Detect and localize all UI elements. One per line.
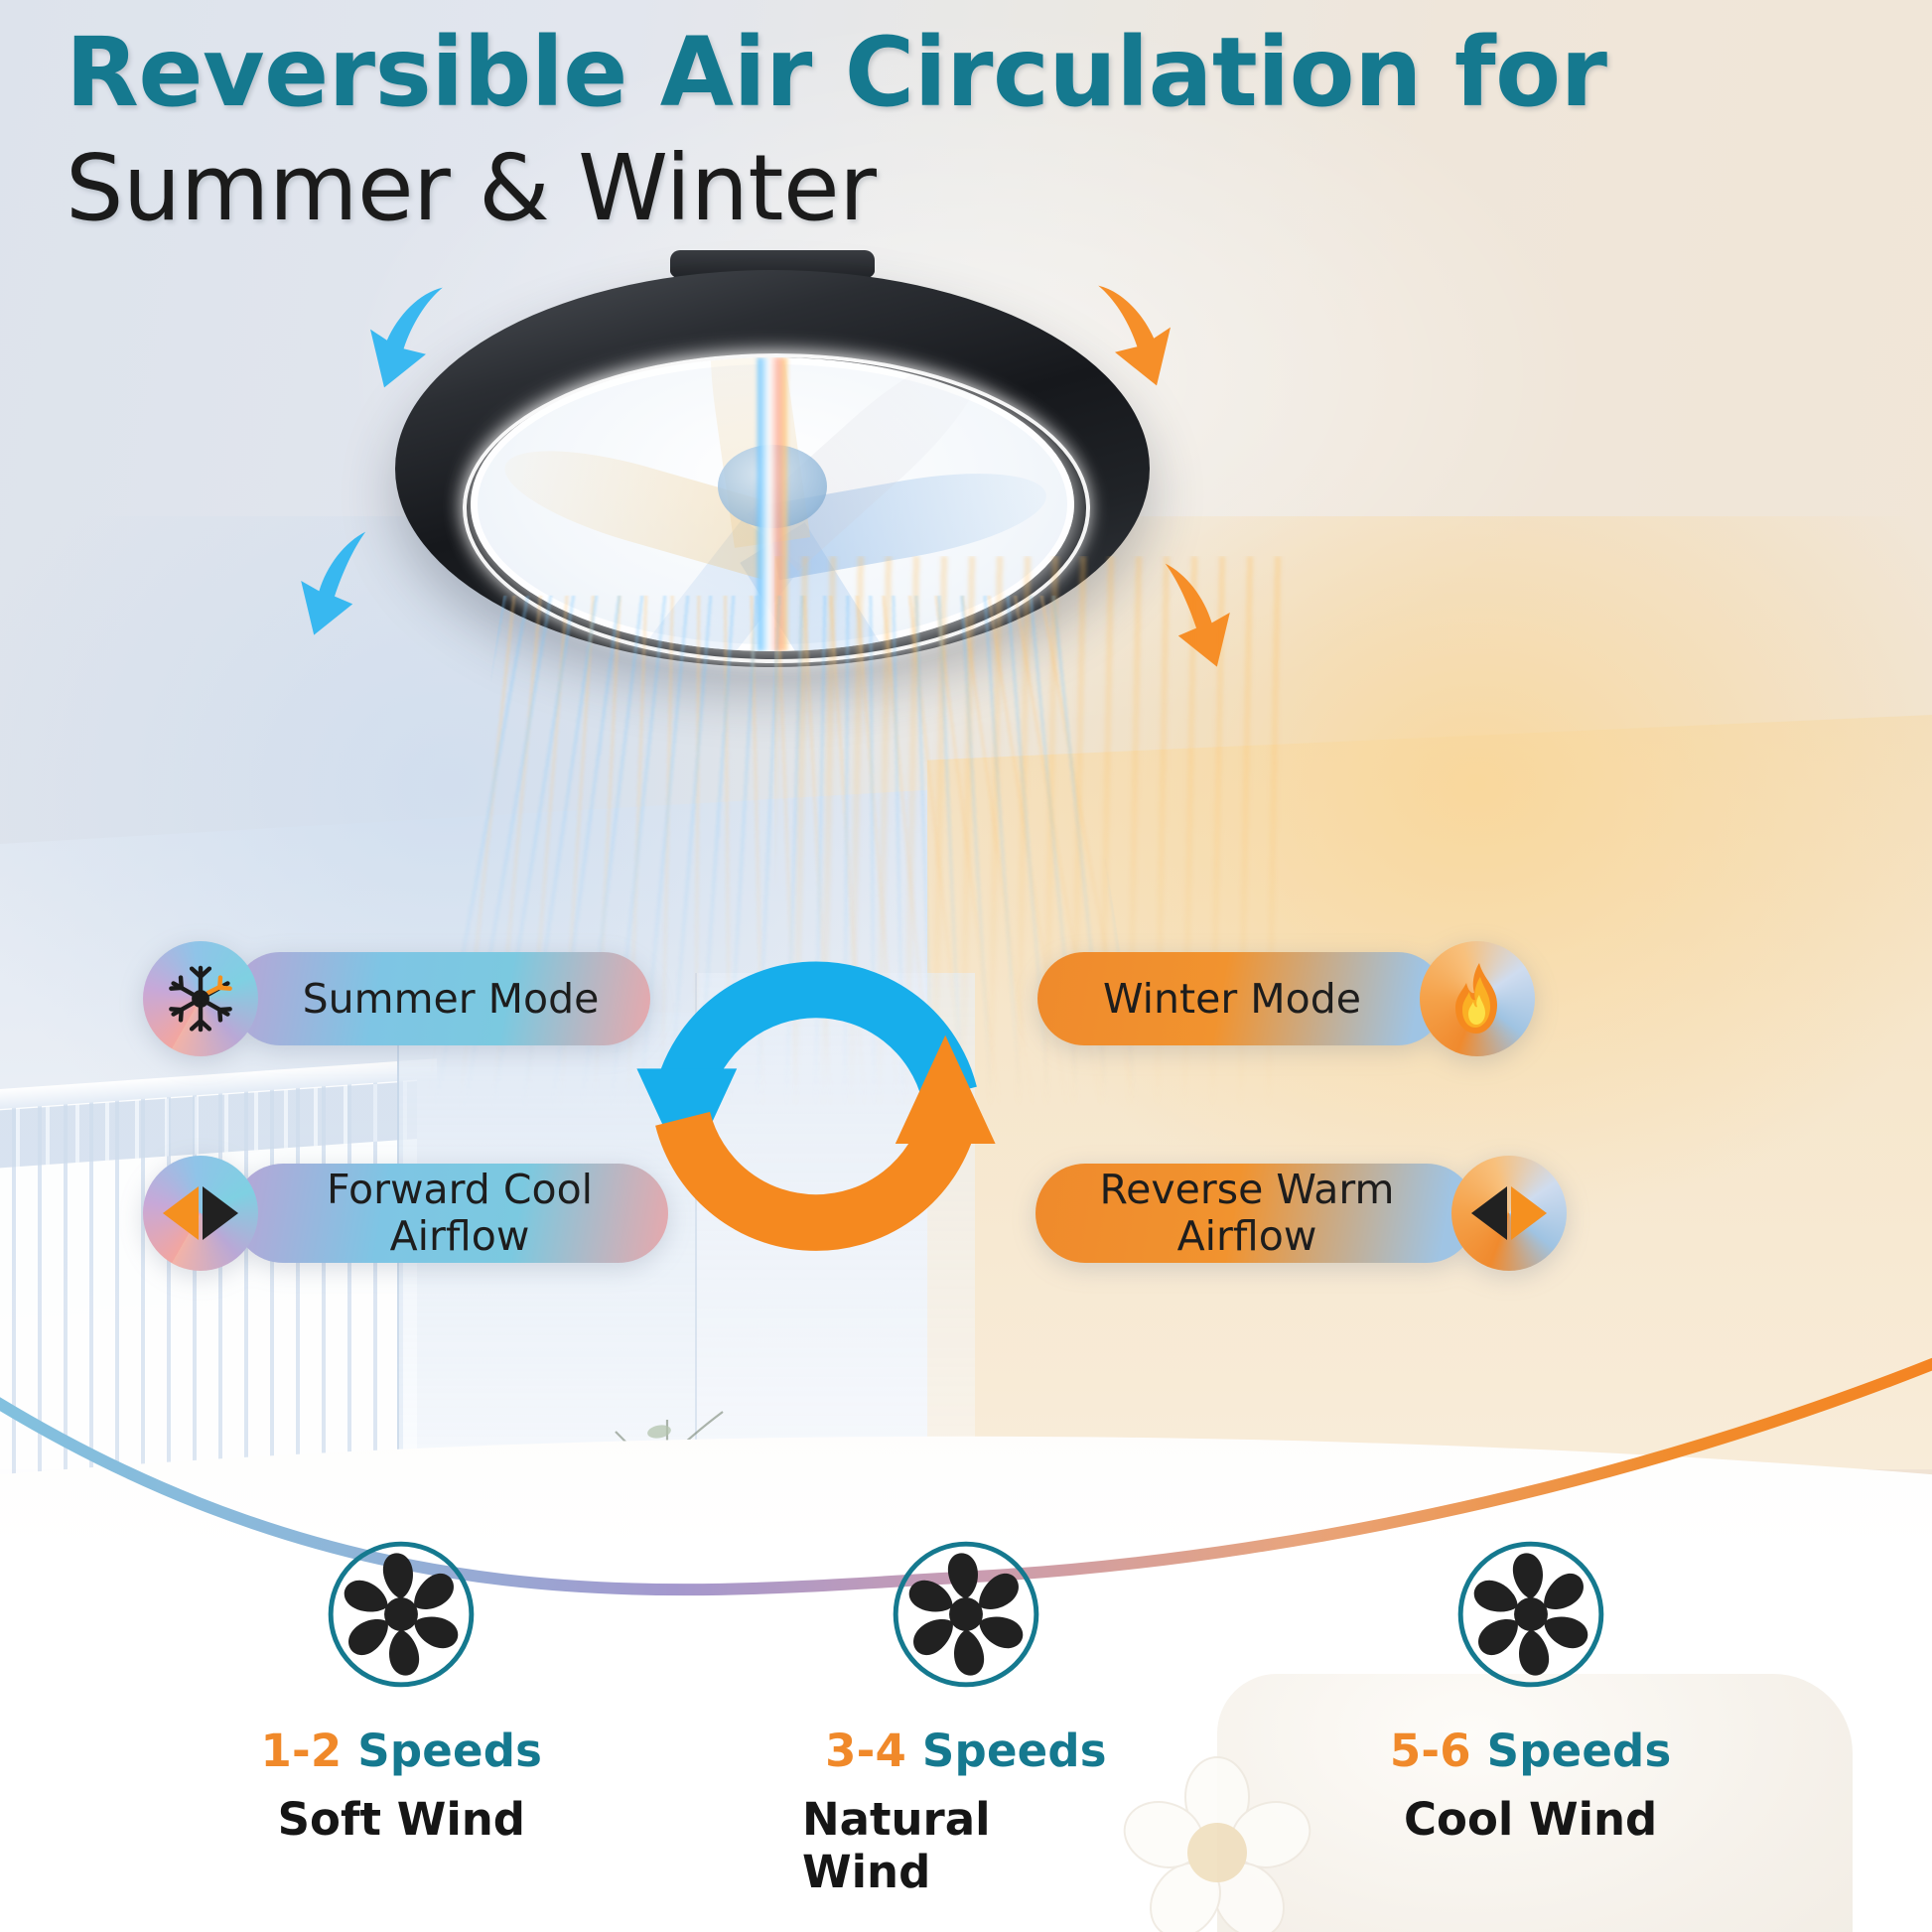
speed-range-label: 1-2 Speeds [261, 1725, 543, 1777]
forward-airflow-body: Forward Cool Airflow [236, 1167, 665, 1259]
fan-blades-icon [1454, 1538, 1607, 1691]
speed-item-2: 3-4 Speeds Natural Wind [802, 1538, 1130, 1898]
pill-label: Summer Mode [303, 976, 600, 1023]
pill-reverse-warm-airflow[interactable]: Reverse Warm Airflow [1038, 1160, 1563, 1267]
page-title: Reversible Air Circulation for Summer & … [66, 22, 1614, 237]
fan-blades-icon [325, 1538, 478, 1691]
speed-name-label: Natural Wind [802, 1793, 1130, 1898]
title-line-2: Summer & Winter [66, 139, 1614, 237]
speed-item-3: 5-6 Speeds Cool Wind [1367, 1538, 1695, 1846]
flame-icon [1447, 961, 1508, 1036]
forward-direction-icon [159, 1182, 242, 1244]
pill-label: Winter Mode [1103, 976, 1361, 1023]
reverse-cycle-arrows-icon [608, 894, 1025, 1311]
pill-label: Reverse Warm Airflow [1100, 1167, 1395, 1259]
fan-inner-rim [463, 353, 1089, 663]
winter-mode-body: Winter Mode [1040, 955, 1442, 1042]
pill-summer-mode[interactable]: Summer Mode [147, 945, 647, 1052]
forward-airflow-badge [147, 1160, 254, 1267]
speed-range-unit: Speeds [906, 1725, 1107, 1777]
speed-item-1: 1-2 Speeds Soft Wind [237, 1538, 565, 1846]
fan-housing [395, 270, 1150, 667]
reverse-airflow-badge [1455, 1160, 1563, 1267]
pill-label: Forward Cool Airflow [327, 1167, 593, 1259]
pill-forward-cool-airflow[interactable]: Forward Cool Airflow [147, 1160, 665, 1267]
infographic-canvas: Reversible Air Circulation for Summer & … [0, 0, 1932, 1932]
winter-mode-badge [1424, 945, 1531, 1052]
snowflake-icon [164, 962, 237, 1035]
speed-list: 1-2 Speeds Soft Wind 3-4 Speeds Natural … [0, 1538, 1932, 1898]
summer-mode-body: Summer Mode [236, 955, 647, 1042]
speed-range-number: 3-4 [825, 1725, 906, 1777]
speed-range-unit: Speeds [342, 1725, 542, 1777]
speed-range-label: 3-4 Speeds [825, 1725, 1107, 1777]
speed-range-label: 5-6 Speeds [1390, 1725, 1672, 1777]
reverse-airflow-body: Reverse Warm Airflow [1038, 1167, 1473, 1259]
ceiling-fan-icon [395, 250, 1150, 667]
reverse-direction-icon [1467, 1182, 1551, 1244]
pill-winter-mode[interactable]: Winter Mode [1040, 945, 1531, 1052]
title-line-1: Reversible Air Circulation for [66, 22, 1614, 125]
fan-blades-icon [890, 1538, 1042, 1691]
summer-mode-badge [147, 945, 254, 1052]
speed-range-number: 5-6 [1390, 1725, 1471, 1777]
speed-range-unit: Speeds [1471, 1725, 1672, 1777]
speed-name-label: Cool Wind [1404, 1793, 1657, 1846]
speed-range-number: 1-2 [261, 1725, 343, 1777]
speed-name-label: Soft Wind [278, 1793, 525, 1846]
